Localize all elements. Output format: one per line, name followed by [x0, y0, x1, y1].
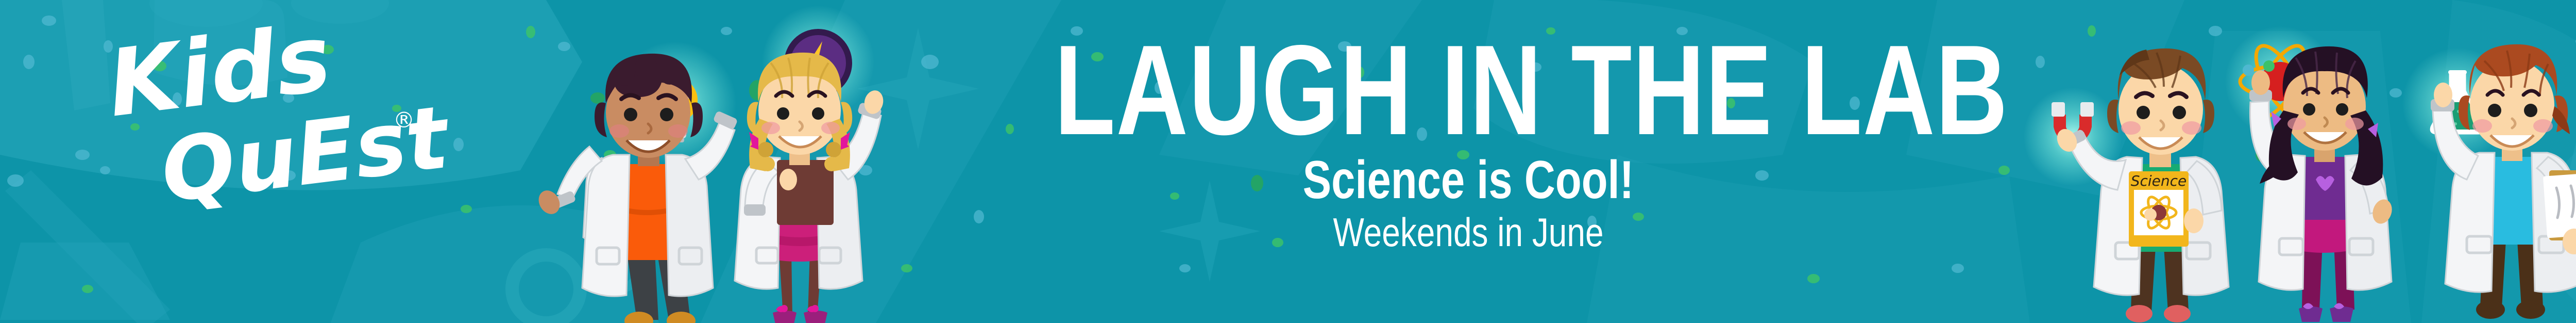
head — [2107, 49, 2214, 155]
eye-left — [2488, 104, 2501, 117]
subheadline-secondary: Weekends in June — [1033, 212, 1903, 254]
science-book-title: Science — [2131, 172, 2187, 189]
eye-right — [2173, 106, 2186, 119]
promo-copy-block: LAUGH IN THE LAB Science is Cool! Weeken… — [938, 36, 1999, 254]
eye-left — [2303, 103, 2315, 116]
character-boy-with-magnet: Science — [2023, 49, 2229, 322]
subheadline-primary: Science is Cool! — [1044, 153, 1893, 207]
headline: LAUGH IN THE LAB — [1055, 36, 1883, 143]
character-girl-with-atom — [2225, 26, 2395, 322]
hand-left — [2251, 70, 2270, 95]
character-boy-with-flask — [2402, 44, 2576, 319]
eye-left — [2137, 106, 2150, 119]
promo-banner: Kids QuEst ® — [0, 0, 2576, 323]
eye-right — [2524, 104, 2537, 117]
eye-right — [2336, 103, 2348, 116]
hand-left — [2434, 83, 2452, 107]
